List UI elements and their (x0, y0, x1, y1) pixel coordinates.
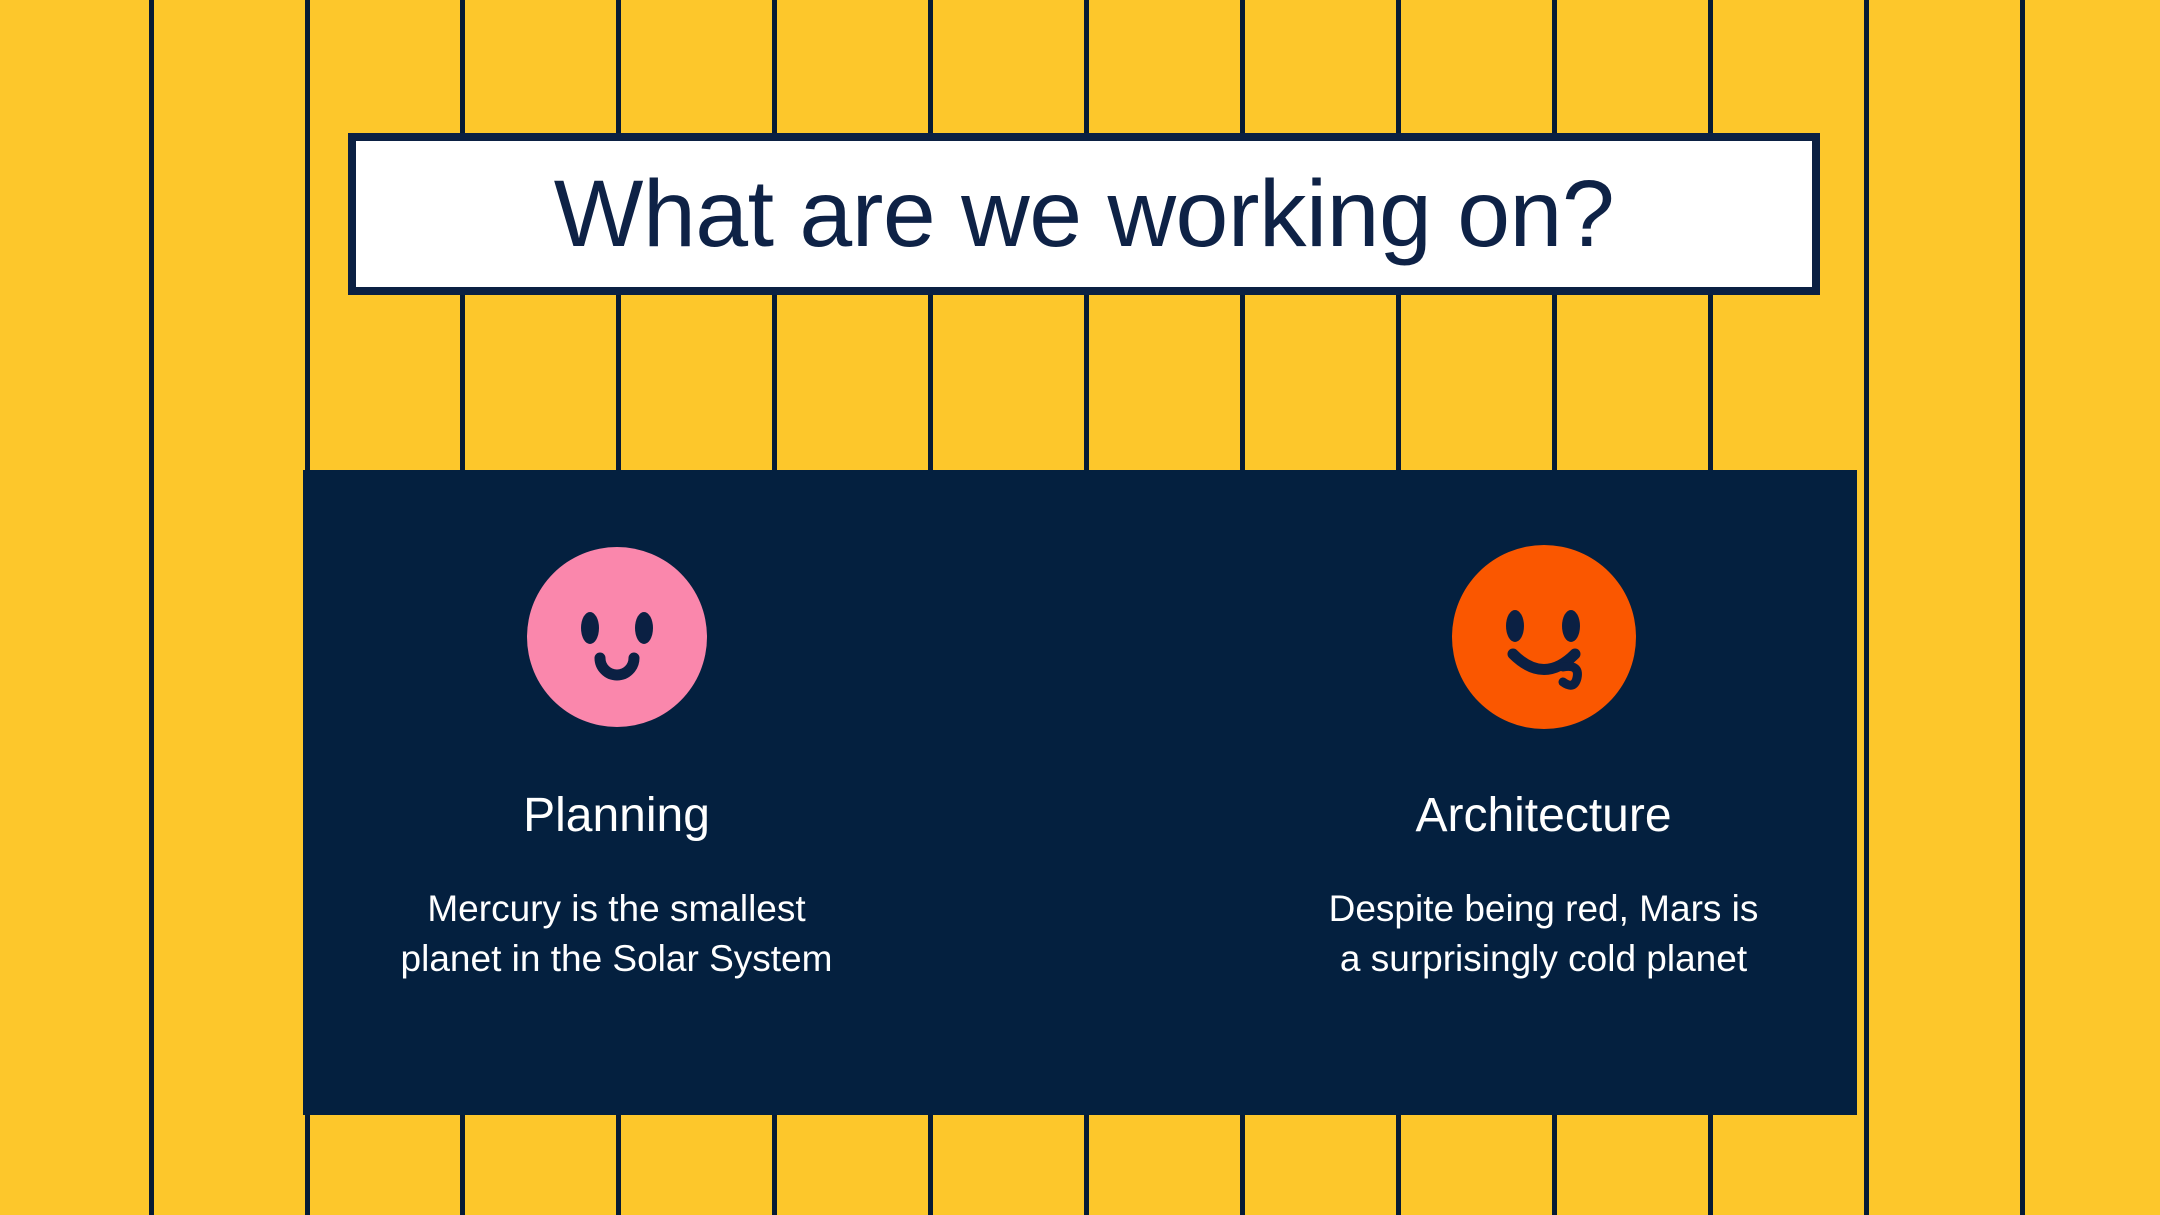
background-stripe-11 (1864, 0, 1869, 1215)
column-heading: Architecture (1415, 792, 1671, 840)
column-heading: Planning (523, 792, 710, 840)
face-licking-lips-icon (1451, 544, 1637, 730)
title-card: What are we working on? (348, 133, 1820, 295)
smiling-face-icon (524, 544, 710, 730)
column-body-text: Despite being red, Mars is a surprisingl… (1320, 884, 1767, 984)
column-architecture: Architecture Despite being red, Mars is … (1320, 470, 1767, 984)
page-title: What are we working on? (554, 167, 1614, 262)
background-stripe-12 (2020, 0, 2025, 1215)
column-body-text: Mercury is the smallest planet in the So… (393, 884, 840, 984)
content-panel: Planning Mercury is the smallest planet … (303, 470, 1857, 1115)
slide-canvas: What are we working on? Planning Mercury… (0, 0, 2160, 1215)
column-planning: Planning Mercury is the smallest planet … (393, 470, 840, 984)
background-stripe-0 (149, 0, 154, 1215)
